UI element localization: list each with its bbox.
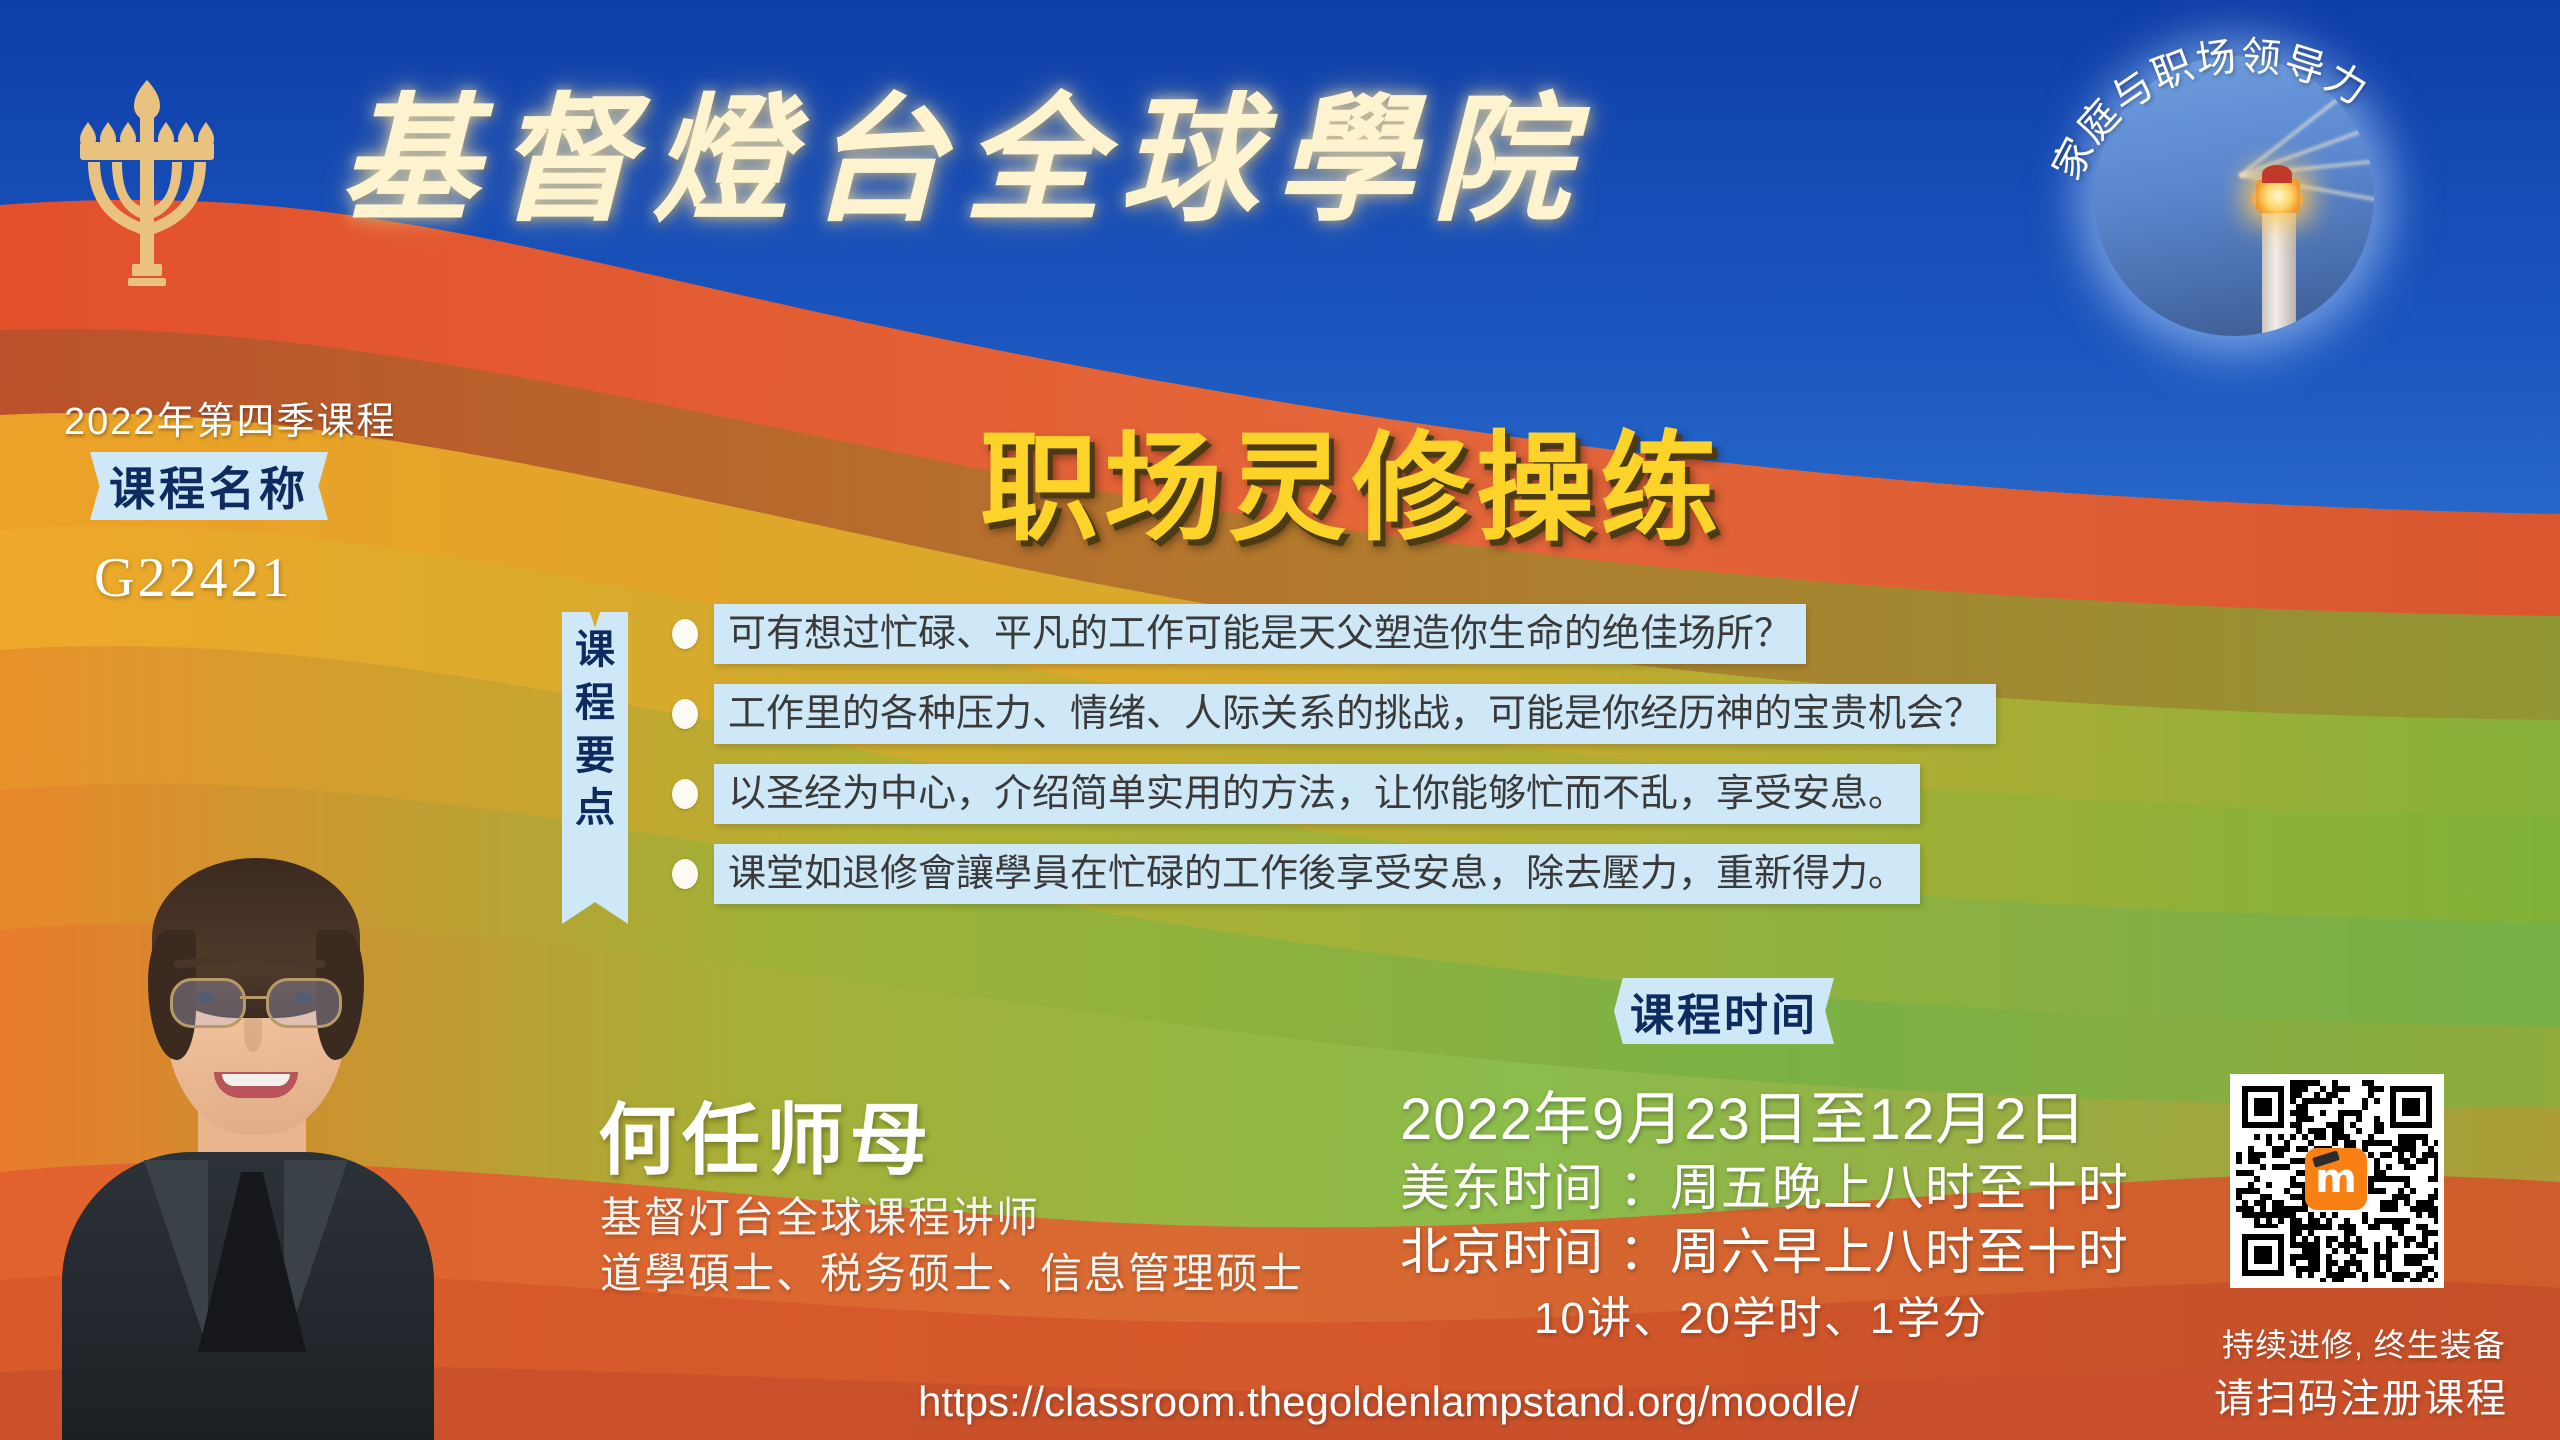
bullet-text: 以圣经为中心，介绍简单实用的方法，让你能够忙而不乱，享受安息。	[714, 764, 1920, 824]
bullet-dot-icon	[672, 699, 698, 729]
list-item: 工作里的各种压力、情绪、人际关系的挑战，可能是你经历神的宝贵机会？	[672, 684, 2132, 744]
list-item: 以圣经为中心，介绍简单实用的方法，让你能够忙而不乱，享受安息。	[672, 764, 2132, 824]
keypoints-char-1: 程	[575, 677, 615, 730]
site-url[interactable]: https://classroom.thegoldenlampstand.org…	[918, 1378, 1859, 1426]
registration-tagline: 持续进修, 终生装备	[2222, 1320, 2506, 1366]
keypoints-list: 可有想过忙碌、平凡的工作可能是天父塑造你生命的绝佳场所？ 工作里的各种压力、情绪…	[672, 604, 2132, 924]
keypoints-char-2: 要	[575, 730, 615, 783]
bullet-dot-icon	[672, 619, 698, 649]
school-name: 基督燈台全球學院	[340, 48, 1610, 248]
lighthouse-icon	[2094, 56, 2374, 336]
menorah-icon	[52, 46, 242, 296]
schedule-credits: 10讲、20学时、1学分	[1534, 1282, 1988, 1346]
moodle-logo: m	[2305, 1148, 2367, 1210]
schedule-us-time: 美东时间 ：周五晚上八时至十时	[1400, 1148, 2129, 1220]
season-label: 2022年第四季课程	[64, 390, 397, 445]
instructor-portrait	[48, 780, 448, 1440]
course-code: G22421	[94, 546, 292, 610]
course-poster: 基督燈台全球學院 家庭与职场领导力 2022年第四季课程 课程名称 G22421	[0, 0, 2560, 1440]
instructor-name: 何任师母	[598, 1078, 934, 1190]
keypoints-char-3: 点	[575, 782, 615, 835]
schedule-cn-time: 北京时间 ：周六早上八时至十时	[1400, 1212, 2129, 1284]
registration-cta: 请扫码注册课程	[2214, 1366, 2508, 1424]
instructor-degrees: 道學碩士、税务硕士、信息管理硕士	[600, 1240, 1304, 1301]
keypoints-char-0: 课	[575, 624, 615, 677]
schedule-badge: 课程时间	[1614, 978, 1834, 1044]
keypoints-badge: 课 程 要 点	[562, 612, 628, 924]
bullet-text: 工作里的各种压力、情绪、人际关系的挑战，可能是你经历神的宝贵机会？	[714, 684, 1996, 744]
schedule-dates: 2022年9月23日至12月2日	[1400, 1072, 2087, 1156]
bullet-text: 可有想过忙碌、平凡的工作可能是天父塑造你生命的绝佳场所？	[714, 604, 1806, 664]
bullet-dot-icon	[672, 859, 698, 889]
bullet-dot-icon	[672, 779, 698, 809]
bullet-text: 课堂如退修會讓學員在忙碌的工作後享受安息，除去壓力，重新得力。	[714, 844, 1920, 904]
list-item: 可有想过忙碌、平凡的工作可能是天父塑造你生命的绝佳场所？	[672, 604, 2132, 664]
course-title: 职场灵修操练	[980, 392, 1724, 563]
instructor-role: 基督灯台全球课程讲师	[600, 1184, 1040, 1245]
list-item: 课堂如退修會讓學員在忙碌的工作後享受安息，除去壓力，重新得力。	[672, 844, 2132, 904]
course-name-badge: 课程名称	[90, 452, 328, 520]
